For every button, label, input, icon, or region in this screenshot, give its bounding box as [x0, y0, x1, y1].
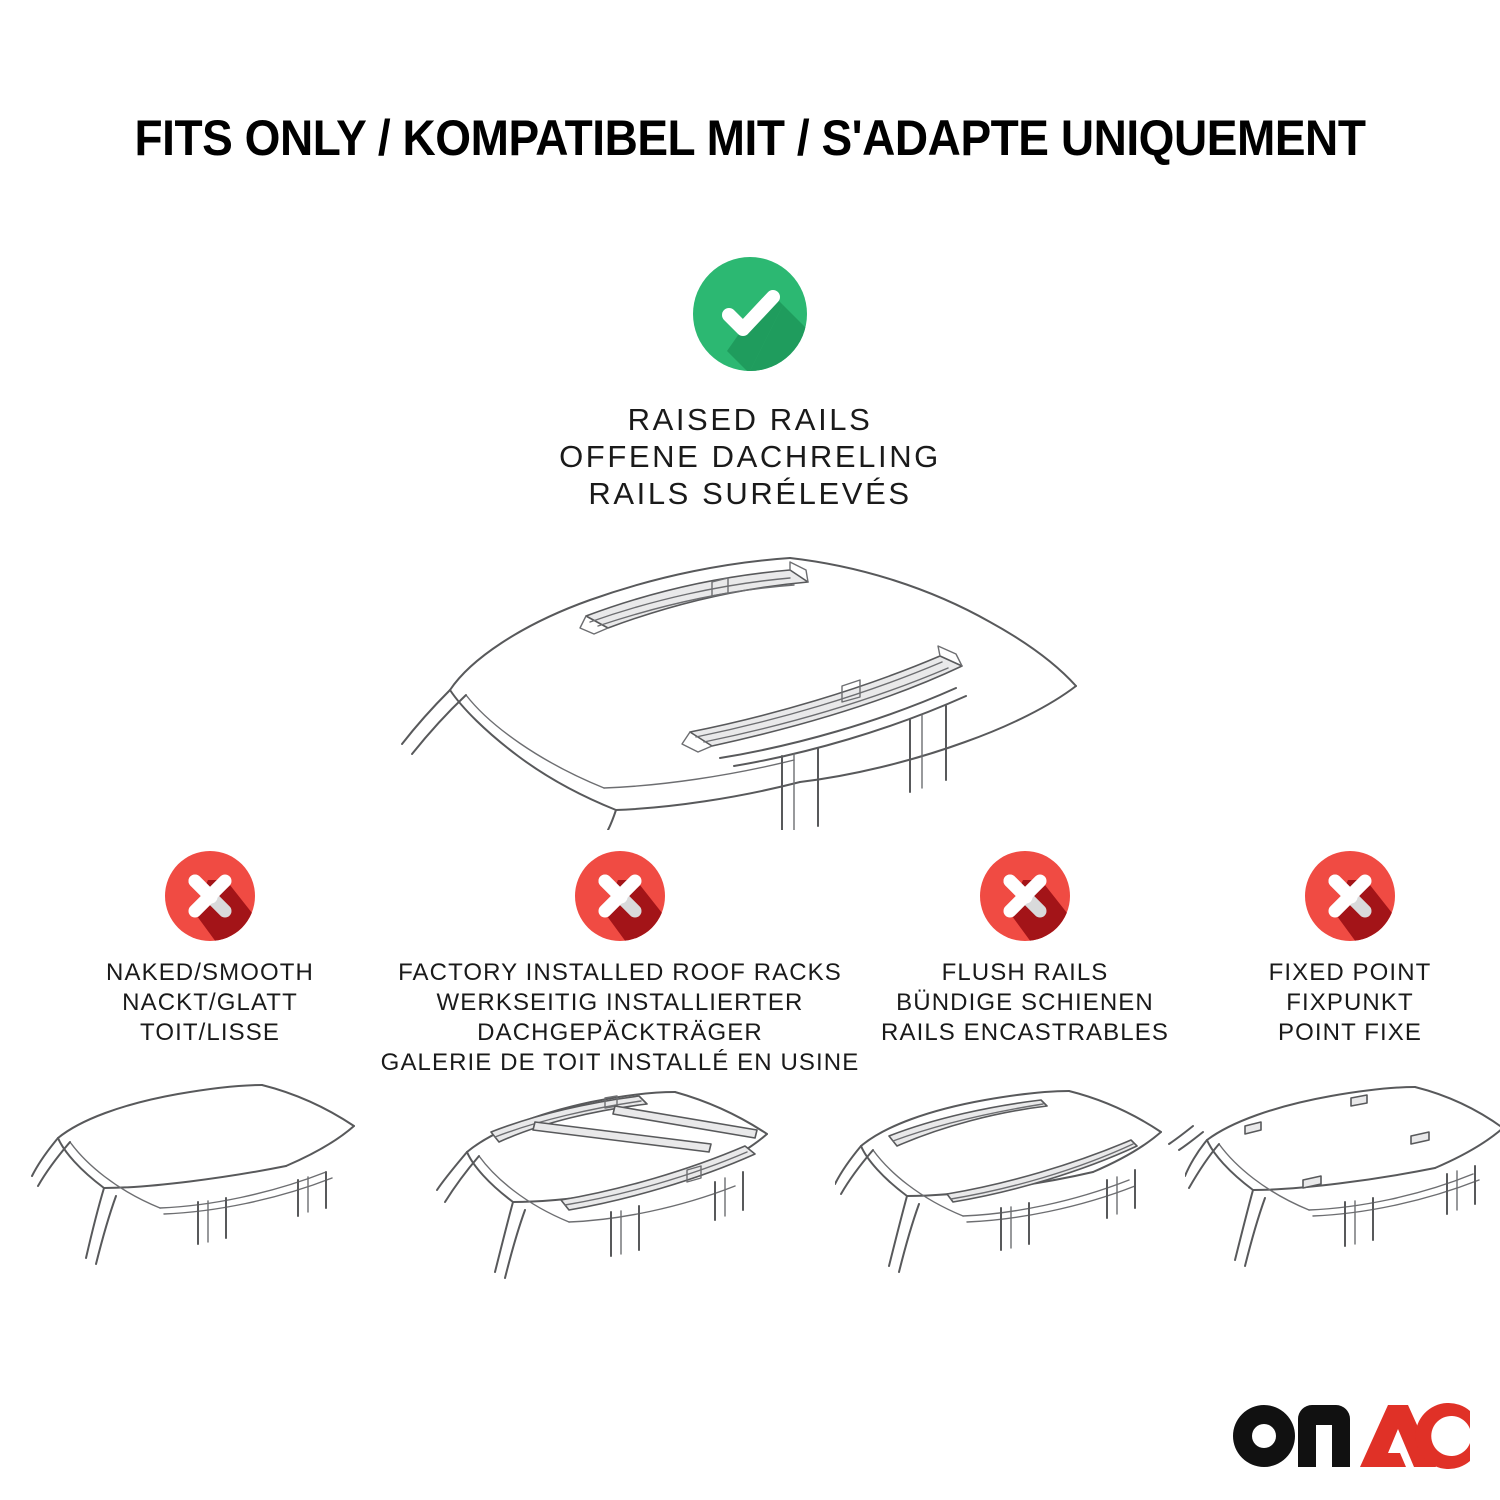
label-line: POINT FIXE: [1269, 1018, 1432, 1048]
label-line: TOIT/LISSE: [106, 1018, 314, 1048]
compatible-label-line-1: RAISED RAILS: [559, 401, 941, 438]
label-line: FIXPUNKT: [1269, 988, 1432, 1018]
cross-circle-icon: [979, 850, 1071, 942]
incompatible-section: NAKED/SMOOTH NACKT/GLATT TOIT/LISSE: [0, 850, 1500, 1290]
omac-logo-letter-m: [1298, 1405, 1350, 1467]
incompatible-label-factory-roof-racks: FACTORY INSTALLED ROOF RACKS WERKSEITIG …: [381, 958, 860, 1078]
cross-circle-icon: [1304, 850, 1396, 942]
incompatible-label-fixed-point: FIXED POINT FIXPUNKT POINT FIXE: [1269, 958, 1432, 1048]
label-line: NACKT/GLATT: [106, 988, 314, 1018]
cross-circle-icon: [574, 850, 666, 942]
compatible-label: RAISED RAILS OFFENE DACHRELING RAILS SUR…: [559, 401, 941, 512]
incompatible-column-flush-rails: FLUSH RAILS BÜNDIGE SCHIENEN RAILS ENCAS…: [845, 850, 1205, 1290]
car-roof-with-raised-rails-illustration: [390, 530, 1110, 830]
incompatible-column-fixed-point: FIXED POINT FIXPUNKT POINT FIXE: [1210, 850, 1490, 1285]
car-roof-flush-rails-illustration: [835, 1070, 1215, 1290]
label-line: FIXED POINT: [1269, 958, 1432, 988]
label-line: FACTORY INSTALLED ROOF RACKS: [381, 958, 860, 988]
compatible-section: RAISED RAILS OFFENE DACHRELING RAILS SUR…: [0, 255, 1500, 830]
incompatible-column-naked-smooth: NAKED/SMOOTH NACKT/GLATT TOIT/LISSE: [15, 850, 405, 1288]
incompatible-column-factory-roof-racks: FACTORY INSTALLED ROOF RACKS WERKSEITIG …: [410, 850, 830, 1289]
label-line: NAKED/SMOOTH: [106, 958, 314, 988]
label-line: RAILS ENCASTRABLES: [881, 1018, 1169, 1048]
label-line: WERKSEITIG INSTALLIERTER: [381, 988, 860, 1018]
omac-logo-letter-o: [1233, 1405, 1295, 1467]
cross-circle-icon: [164, 850, 256, 942]
omac-logo: [1232, 1403, 1470, 1469]
compatible-label-line-3: RAILS SURÉLEVÉS: [559, 475, 941, 512]
compatible-label-line-2: OFFENE DACHRELING: [559, 438, 941, 475]
incompatible-label-flush-rails: FLUSH RAILS BÜNDIGE SCHIENEN RAILS ENCAS…: [881, 958, 1169, 1048]
label-line: FLUSH RAILS: [881, 958, 1169, 988]
label-line: DACHGEPÄCKTRÄGER: [381, 1018, 860, 1048]
check-circle-icon: [691, 255, 809, 373]
car-roof-factory-roof-racks-illustration: [425, 1064, 815, 1289]
page-title: FITS ONLY / KOMPATIBEL MIT / S'ADAPTE UN…: [60, 108, 1440, 168]
label-line: BÜNDIGE SCHIENEN: [881, 988, 1169, 1018]
car-roof-naked-smooth-illustration: [30, 1068, 390, 1288]
incompatible-label-naked-smooth: NAKED/SMOOTH NACKT/GLATT TOIT/LISSE: [106, 958, 314, 1048]
car-roof-fixed-point-illustration: [1185, 1070, 1500, 1285]
